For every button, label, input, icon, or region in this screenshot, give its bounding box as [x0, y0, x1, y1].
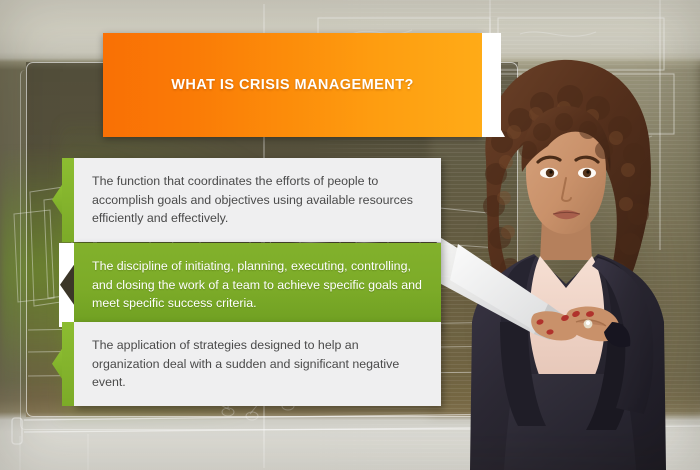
- chevron-right-icon-3: [62, 322, 74, 406]
- title-banner: WHAT IS CRISIS MANAGEMENT?: [103, 33, 501, 137]
- content-box-1[interactable]: The function that coordinates the effort…: [74, 158, 441, 242]
- chevron-right-icon-1: [62, 158, 74, 242]
- content-box-3[interactable]: The application of strategies designed t…: [74, 322, 441, 406]
- presentation-slide: WHAT IS CRISIS MANAGEMENT? The function …: [0, 0, 700, 470]
- page-title: WHAT IS CRISIS MANAGEMENT?: [103, 77, 482, 93]
- title-banner-fill: WHAT IS CRISIS MANAGEMENT?: [103, 33, 482, 137]
- content-box-1-text: The function that coordinates the effort…: [74, 158, 441, 242]
- content-box-3-text: The application of strategies designed t…: [74, 322, 441, 406]
- chevron-left-icon-2: [59, 243, 74, 327]
- content-box-2[interactable]: The discipline of initiating, planning, …: [74, 243, 441, 327]
- content-box-2-text: The discipline of initiating, planning, …: [74, 243, 441, 327]
